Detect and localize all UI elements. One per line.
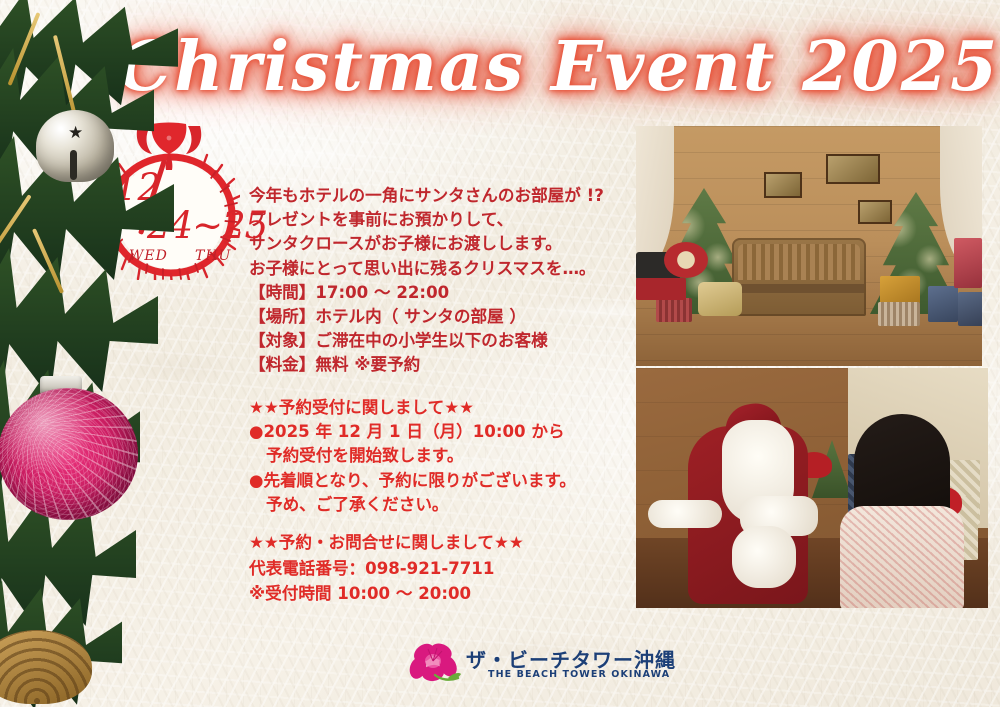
wooden-bench	[732, 238, 866, 316]
reservation-heading: ★★予約受付に関しまして★★	[249, 396, 649, 420]
round-wreath-decor	[664, 242, 708, 278]
hotel-logo: ザ・ビーチタワー沖縄 THE BEACH TOWER OKINAWA	[408, 641, 624, 687]
photo-santa-room	[636, 126, 982, 366]
gift-box	[954, 238, 982, 288]
reservation-line: ●2025 年 12 月 1 日（月）10:00 から	[249, 420, 649, 444]
photo-santa-with-child	[636, 368, 988, 608]
hibiscus-flower-icon	[408, 642, 462, 686]
detail-target: 【対象】ご滞在中の小学生以下のお客様	[249, 329, 639, 353]
intro-line: 今年もホテルの一角にサンタさんのお部屋が !?	[249, 184, 639, 208]
wall-shelf-display	[826, 154, 880, 184]
detail-time: 【時間】17:00 〜 22:00	[249, 281, 639, 305]
detail-place: 【場所】ホテル内（ サンタの部屋 ）	[249, 305, 639, 329]
reservation-line: 予約受付を開始致します。	[249, 444, 649, 468]
intro-line: お子様にとって思い出に残るクリスマスを…。	[249, 257, 639, 281]
intro-and-details-block: 今年もホテルの一角にサンタさんのお部屋が !? プレゼントを事前にお預かりして、…	[249, 184, 639, 378]
contact-heading: ★★予約・お問合せに関しまして★★	[249, 530, 649, 556]
santa-fur-glove	[732, 526, 796, 588]
contact-hours: ※受付時間 10:00 〜 20:00	[249, 581, 649, 607]
child-dress	[840, 506, 964, 608]
poster-title-area: Christmas Event 2025	[118, 22, 898, 114]
intro-line: サンタクロースがお子様にお渡しします。	[249, 232, 639, 256]
glitter-ornament-ball	[0, 388, 138, 520]
contact-phone[interactable]: 代表電話番号：098-921-7711	[249, 556, 649, 582]
red-table-cloth	[636, 278, 686, 300]
gift-sack	[698, 282, 742, 316]
wall-picture-small	[764, 172, 802, 198]
contact-block: ★★予約・お問合せに関しまして★★ 代表電話番号：098-921-7711 ※受…	[249, 530, 649, 607]
christmas-event-poster: Christmas Event 2025	[0, 0, 1000, 707]
star-glyph: ★	[68, 124, 83, 141]
santa-fur-trim	[648, 500, 722, 528]
christmas-tree-decoration: ★	[0, 0, 198, 707]
reservation-line: 予め、ご了承ください。	[249, 493, 649, 517]
detail-fee: 【料金】無料 ※要予約	[249, 353, 639, 377]
gift-box	[928, 286, 958, 322]
gift-box	[880, 276, 920, 304]
badge-weekday-end: THU	[195, 248, 231, 264]
logo-name-en: THE BEACH TOWER OKINAWA	[488, 669, 670, 680]
gift-box	[878, 302, 920, 326]
bell-clapper	[70, 150, 77, 180]
gift-box	[656, 298, 692, 322]
intro-line: プレゼントを事前にお預かりして、	[249, 208, 639, 232]
page-title: Christmas Event 2025	[118, 22, 898, 112]
ornament-glitter	[0, 388, 138, 520]
reservation-block: ★★予約受付に関しまして★★ ●2025 年 12 月 1 日（月）10:00 …	[249, 396, 649, 517]
jingle-bell-icon: ★	[36, 110, 114, 182]
reservation-line: ●先着順となり、予約に限りがございます。	[249, 469, 649, 493]
gift-box	[958, 292, 982, 326]
